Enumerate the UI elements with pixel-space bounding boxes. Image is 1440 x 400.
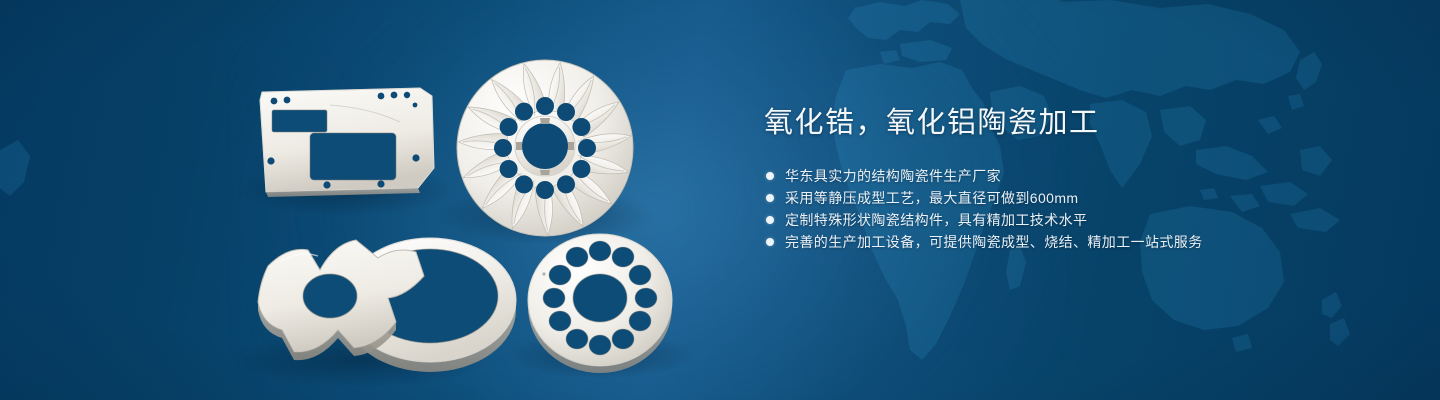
ceramic-perforated-disc-part [528,234,672,373]
list-item: 华东具实力的结构陶瓷件生产厂家 [764,168,1404,184]
bullet-dot-icon [766,216,774,224]
list-item: 采用等静压成型工艺，最大直径可做到600mm [764,190,1404,206]
banner-copy-block: 氧化锆，氧化铝陶瓷加工 华东具实力的结构陶瓷件生产厂家 采用等静压成型工艺，最大… [764,108,1404,256]
ceramic-plate-part [260,88,434,197]
list-item: 定制特殊形状陶瓷结构件，具有精加工技术水平 [764,212,1404,228]
bullet-dot-icon [766,194,774,202]
feature-text: 定制特殊形状陶瓷结构件，具有精加工技术水平 [785,212,1087,228]
feature-list: 华东具实力的结构陶瓷件生产厂家 采用等静压成型工艺，最大直径可做到600mm 定… [764,168,1404,250]
list-item: 完善的生产加工设备，可提供陶瓷成型、烧结、精加工一站式服务 [764,234,1404,250]
product-photo-cluster [0,0,740,400]
bullet-dot-icon [766,172,774,180]
feature-text: 采用等静压成型工艺，最大直径可做到600mm [785,190,1078,206]
bullet-dot-icon [766,238,774,246]
feature-text: 华东具实力的结构陶瓷件生产厂家 [785,168,1001,184]
feature-text: 完善的生产加工设备，可提供陶瓷成型、烧结、精加工一站式服务 [785,234,1203,250]
page-title: 氧化锆，氧化铝陶瓷加工 [764,108,1404,140]
ceramic-impeller-part [457,60,633,236]
hero-banner: 氧化锆，氧化铝陶瓷加工 华东具实力的结构陶瓷件生产厂家 采用等静压成型工艺，最大… [0,0,1440,400]
